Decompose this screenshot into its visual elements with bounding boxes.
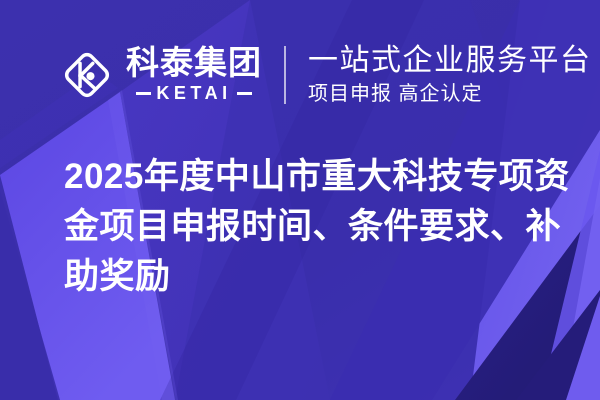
brand-logo: 科泰集团 KETAI xyxy=(58,46,262,105)
slogan-secondary: 项目申报 高企认定 xyxy=(308,82,592,106)
brand-dash-left xyxy=(136,92,151,95)
banner-title: 2025年度中山市重大科技专项资金项目申报时间、条件要求、补助奖励 xyxy=(64,152,576,302)
ketai-diamond-kt-monogram-icon xyxy=(58,46,116,104)
brand-wordmark: 科泰集团 KETAI xyxy=(126,46,262,105)
banner-header: 科泰集团 KETAI 一站式企业服务平台 项目申报 高企认定 xyxy=(0,36,600,114)
slogan-block: 一站式企业服务平台 项目申报 高企认定 xyxy=(308,44,592,106)
brand-name-en: KETAI xyxy=(151,83,236,104)
slogan-primary: 一站式企业服务平台 xyxy=(308,44,592,78)
header-divider xyxy=(284,46,286,104)
brand-name-en-row: KETAI xyxy=(126,83,262,104)
brand-name-cn: 科泰集团 xyxy=(126,46,262,81)
promo-banner: 科泰集团 KETAI 一站式企业服务平台 项目申报 高企认定 2025年度中山市… xyxy=(0,0,600,400)
brand-dash-right xyxy=(237,92,252,95)
